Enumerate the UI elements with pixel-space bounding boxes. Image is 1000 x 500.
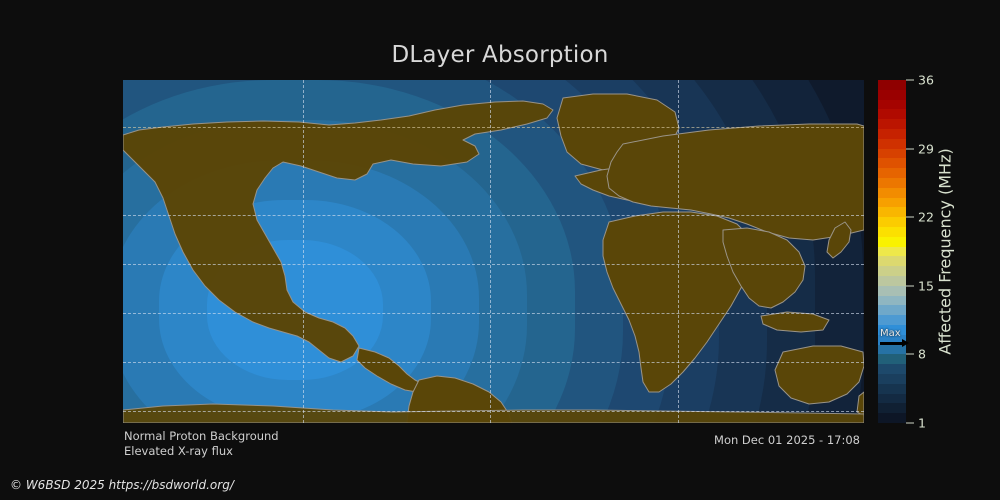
colorbar-segment xyxy=(878,178,906,188)
colorbar-segment xyxy=(878,354,906,364)
meridian-gridline xyxy=(303,80,304,423)
colorbar-segment xyxy=(878,100,906,110)
colorbar-segment xyxy=(878,256,906,266)
colorbar-segment xyxy=(878,188,906,198)
colorbar-segment xyxy=(878,237,906,247)
colorbar-segment xyxy=(878,90,906,100)
parallel-gridline xyxy=(123,313,864,314)
colorbar-segment xyxy=(878,168,906,178)
colorbar-segment xyxy=(878,129,906,139)
colorbar-segment xyxy=(878,413,906,423)
world-map[interactable] xyxy=(123,80,864,423)
colorbar-segment xyxy=(878,394,906,404)
colorbar-tick: 1 xyxy=(906,416,926,431)
colorbar-segment xyxy=(878,149,906,159)
colorbar-axis-label-text: Affected Frequency (MHz) xyxy=(936,148,955,354)
colorbar[interactable] xyxy=(878,80,906,423)
colorbar-segment xyxy=(878,158,906,168)
status-captions: Normal Proton Background Elevated X-ray … xyxy=(124,429,279,459)
xray-status-text: Elevated X-ray flux xyxy=(124,444,279,459)
max-marker: Max xyxy=(878,329,912,348)
parallel-gridline xyxy=(123,411,864,412)
colorbar-segment xyxy=(878,109,906,119)
colorbar-segment xyxy=(878,198,906,208)
colorbar-segment xyxy=(878,315,906,325)
colorbar-segment xyxy=(878,207,906,217)
meridian-gridline xyxy=(678,80,679,423)
max-marker-arrow-icon xyxy=(878,339,912,348)
parallel-gridline xyxy=(123,127,864,128)
colorbar-tick-label: 8 xyxy=(918,347,926,362)
proton-status-text: Normal Proton Background xyxy=(124,429,279,444)
colorbar-axis-label: Affected Frequency (MHz) xyxy=(930,80,960,423)
colorbar-segment xyxy=(878,286,906,296)
map-canvas xyxy=(123,80,864,423)
colorbar-segment xyxy=(878,266,906,276)
colorbar-tick: 8 xyxy=(906,347,926,362)
colorbar-segment xyxy=(878,119,906,129)
page-title: DLayer Absorption xyxy=(0,42,1000,68)
colorbar-segment xyxy=(878,80,906,90)
colorbar-segment xyxy=(878,305,906,315)
colorbar-segment xyxy=(878,364,906,374)
timestamp: Mon Dec 01 2025 - 17:08 xyxy=(640,433,860,447)
colorbar-segment xyxy=(878,374,906,384)
colorbar-segment xyxy=(878,276,906,286)
colorbar-segment xyxy=(878,247,906,257)
colorbar-segment xyxy=(878,139,906,149)
continents-layer xyxy=(123,80,864,423)
parallel-gridline xyxy=(123,362,864,363)
parallel-gridline xyxy=(123,264,864,265)
dlayer-absorption-page: DLayer Absorption xyxy=(0,0,1000,500)
colorbar-segment xyxy=(878,403,906,413)
copyright-footer: © W6BSD 2025 https://bsdworld.org/ xyxy=(10,478,234,492)
meridian-gridline xyxy=(490,80,491,423)
colorbar-tick-label: 1 xyxy=(918,416,926,431)
colorbar-segment xyxy=(878,217,906,227)
colorbar-segment xyxy=(878,384,906,394)
colorbar-segment xyxy=(878,227,906,237)
colorbar-segment xyxy=(878,296,906,306)
max-marker-label: Max xyxy=(878,329,912,339)
parallel-gridline xyxy=(123,215,864,216)
